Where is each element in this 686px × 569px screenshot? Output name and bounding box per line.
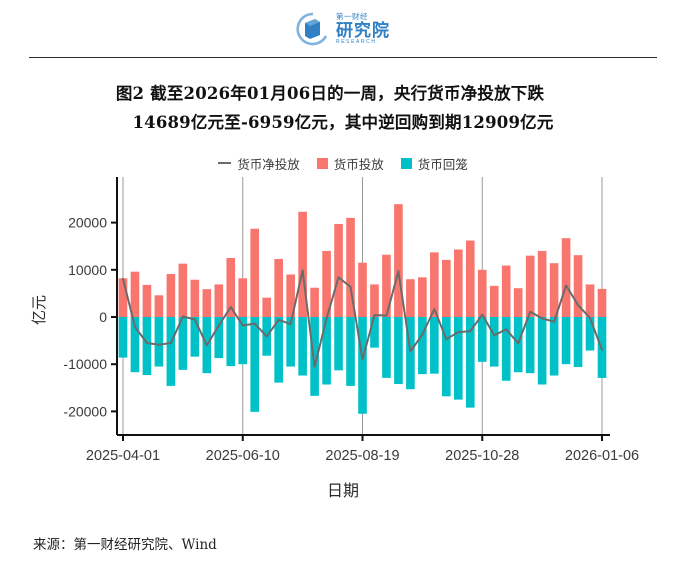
bar-withdrawal	[334, 317, 343, 370]
bar-withdrawal	[191, 317, 200, 357]
bar-injection	[155, 295, 164, 317]
bar-withdrawal	[454, 317, 463, 400]
bar-withdrawal	[167, 317, 176, 386]
bar-injection	[538, 251, 547, 317]
legend-label-injection: 货币投放	[334, 154, 384, 173]
bar-withdrawal	[526, 317, 535, 373]
bar-withdrawal	[550, 317, 559, 376]
bar-withdrawal	[358, 317, 367, 414]
bar-withdrawal	[214, 317, 223, 358]
bar-injection	[274, 259, 283, 317]
bar-injection	[370, 284, 379, 317]
bar-injection	[430, 252, 439, 317]
brand-sub-text: RESEARCH	[336, 40, 390, 45]
bar-injection	[310, 287, 319, 316]
bar-withdrawal	[490, 317, 499, 367]
bar-injection	[250, 228, 259, 316]
legend-swatch-withdrawal-icon	[401, 158, 412, 169]
bar-withdrawal	[250, 317, 259, 412]
bar-withdrawal	[586, 317, 595, 351]
bar-injection	[143, 285, 152, 317]
brand-main-text: 研究院	[336, 22, 390, 39]
y-tick-label-3: -10000	[63, 356, 107, 372]
bar-injection	[454, 249, 463, 316]
legend-swatch-injection-icon	[317, 158, 328, 169]
y-axis-title: 亿元	[28, 295, 49, 325]
bar-injection	[191, 279, 200, 316]
bar-withdrawal	[574, 317, 583, 367]
bar-injection	[442, 260, 451, 317]
bar-injection	[490, 286, 499, 317]
x-axis-title: 日期	[0, 477, 686, 501]
page-header: 第一财经 研究院 RESEARCH	[0, 0, 686, 58]
x-tick-label-4: 2026-01-06	[565, 448, 639, 464]
legend-item-net: 货币净投放	[218, 154, 300, 173]
bar-withdrawal	[430, 317, 439, 374]
bar-withdrawal	[394, 317, 403, 384]
chart-legend: 货币净投放 货币投放 货币回笼	[0, 154, 686, 173]
x-tick-label-0: 2025-04-01	[86, 448, 160, 464]
bar-injection	[502, 265, 511, 316]
bar-injection	[179, 263, 188, 316]
figure-title-line-1: 图2 截至2026年01月06日的一周，央行货币净投放下跌	[40, 80, 646, 109]
bar-injection	[131, 271, 140, 316]
bar-injection	[394, 204, 403, 317]
bar-injection	[514, 288, 523, 317]
figure-title: 图2 截至2026年01月06日的一周，央行货币净投放下跌 14689亿元至-6…	[0, 80, 686, 138]
bar-injection	[406, 279, 415, 317]
bar-injection	[478, 270, 487, 317]
y-tick-label-0: 20000	[68, 214, 107, 230]
bar-injection	[334, 224, 343, 317]
bar-withdrawal	[382, 317, 391, 378]
legend-label-withdrawal: 货币回笼	[418, 154, 468, 173]
bar-injection	[598, 289, 607, 317]
bar-withdrawal	[562, 317, 571, 364]
bar-injection	[526, 255, 535, 316]
figure-title-line-2: 14689亿元至-6959亿元，其中逆回购到期12909亿元	[40, 109, 646, 138]
y-tick-label-2: 0	[99, 309, 107, 325]
bar-injection	[562, 238, 571, 317]
bar-injection	[119, 278, 128, 317]
bar-withdrawal	[155, 317, 164, 367]
y-tick-label-4: -20000	[63, 403, 107, 419]
brand-logo: 第一财经 研究院 RESEARCH	[296, 12, 390, 46]
legend-item-withdrawal: 货币回笼	[401, 154, 468, 173]
bar-injection	[550, 263, 559, 317]
legend-line-marker-icon	[218, 162, 231, 164]
bar-withdrawal	[298, 317, 307, 376]
legend-item-injection: 货币投放	[317, 154, 384, 173]
bar-injection	[203, 289, 212, 317]
legend-label-net: 货币净投放	[237, 154, 300, 173]
brand-top-text: 第一财经	[336, 13, 390, 21]
bar-chart: 20000100000-10000-200002025-04-012025-06…	[0, 177, 686, 507]
bar-injection	[167, 274, 176, 317]
bar-injection	[358, 262, 367, 316]
bar-injection	[262, 297, 271, 316]
bar-withdrawal	[119, 317, 128, 358]
bar-withdrawal	[143, 317, 152, 375]
bar-injection	[466, 240, 475, 316]
bar-withdrawal	[370, 317, 379, 348]
x-tick-label-1: 2025-06-10	[206, 448, 280, 464]
book-logo-icon	[296, 12, 330, 46]
bar-withdrawal	[478, 317, 487, 362]
bar-injection	[586, 284, 595, 317]
y-tick-label-1: 10000	[68, 262, 107, 278]
chart-container: 20000100000-10000-200002025-04-012025-06…	[0, 177, 686, 507]
bar-withdrawal	[346, 317, 355, 386]
x-tick-label-2: 2025-08-19	[325, 448, 399, 464]
bar-withdrawal	[274, 317, 283, 383]
header-divider	[29, 57, 657, 58]
bar-injection	[214, 284, 223, 317]
bar-withdrawal	[514, 317, 523, 372]
x-tick-label-3: 2025-10-28	[445, 448, 519, 464]
bar-withdrawal	[502, 317, 511, 381]
bar-injection	[418, 277, 427, 317]
bar-withdrawal	[538, 317, 547, 384]
bar-injection	[238, 278, 247, 317]
bar-withdrawal	[226, 317, 235, 366]
brand-wordmark: 第一财经 研究院 RESEARCH	[336, 13, 390, 45]
bar-withdrawal	[418, 317, 427, 374]
source-note: 来源：第一财经研究院、Wind	[33, 533, 217, 553]
